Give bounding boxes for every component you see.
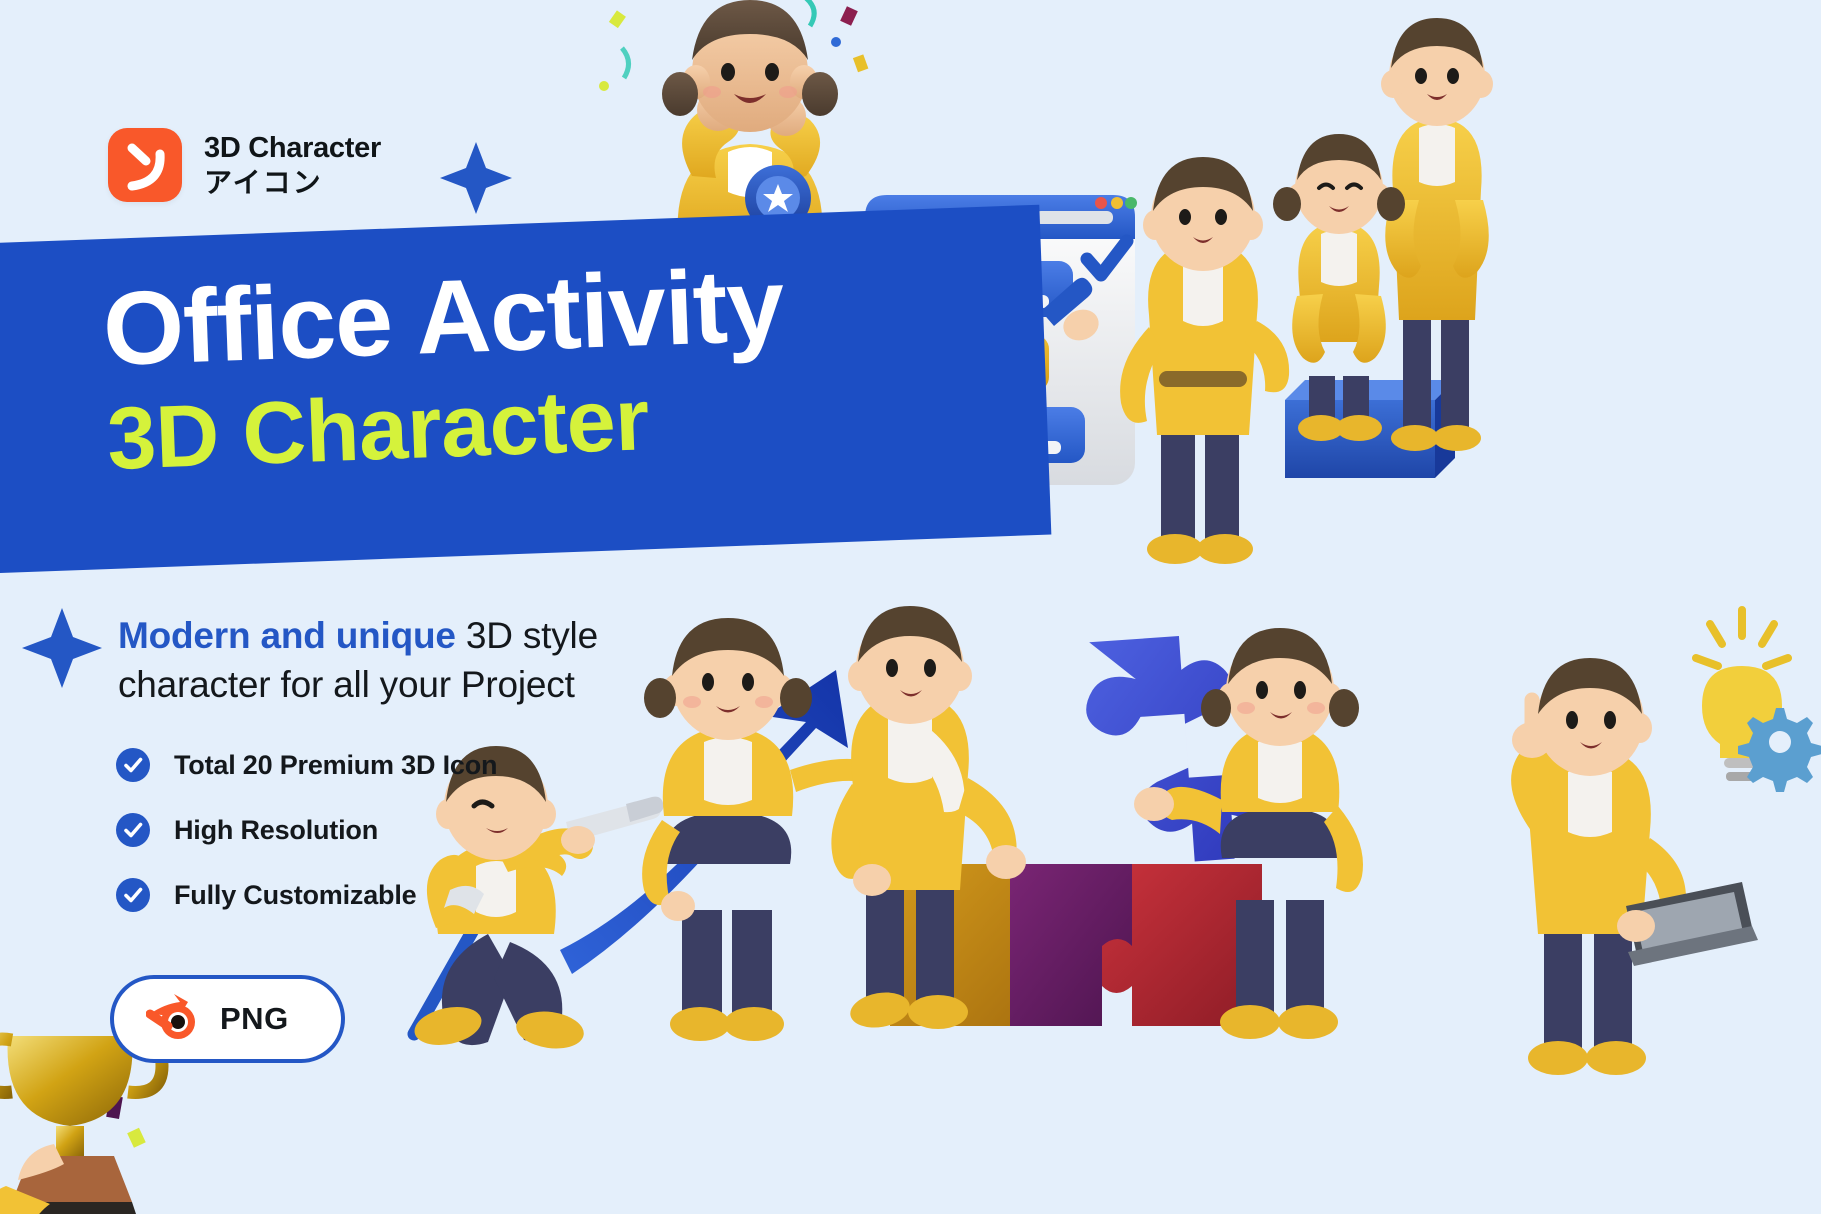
brand-logo-icon <box>108 128 182 202</box>
four-point-star-hero-icon <box>440 142 512 214</box>
tagline-accent: Modern and unique <box>118 615 456 656</box>
four-point-star-side-icon <box>22 608 102 688</box>
brand-subtitle: アイコン <box>204 167 381 198</box>
feature-item: Total 20 Premium 3D Icon <box>116 748 497 782</box>
feature-item: High Resolution <box>116 813 497 847</box>
check-circle-icon <box>116 813 150 847</box>
check-circle-icon <box>116 748 150 782</box>
feature-label: Fully Customizable <box>174 880 416 911</box>
brand-title: 3D Character <box>204 132 381 164</box>
poster-canvas: Office Activity 3D Character <box>0 0 1821 1214</box>
hero-title-line-1: Office Activity <box>101 250 785 385</box>
characters-assembling-puzzle <box>830 600 1390 1050</box>
gear-icon <box>1738 708 1821 792</box>
brand-block: 3D Character アイコン <box>108 128 381 202</box>
blender-logo-icon <box>146 992 200 1046</box>
hero-banner: Office Activity 3D Character <box>0 205 1051 575</box>
tagline: Modern and unique 3D style character for… <box>118 612 738 710</box>
feature-item: Fully Customizable <box>116 878 497 912</box>
check-circle-icon <box>116 878 150 912</box>
character-with-idea-lightbulb-and-laptop <box>1370 610 1810 1050</box>
feature-list: Total 20 Premium 3D Icon High Resolution… <box>116 748 497 912</box>
format-badge[interactable]: PNG <box>110 975 345 1063</box>
feature-label: High Resolution <box>174 815 378 846</box>
format-badge-label: PNG <box>220 1001 289 1037</box>
characters-on-winner-podium <box>1285 20 1585 490</box>
hero-title-line-2: 3D Character <box>105 366 789 488</box>
feature-label: Total 20 Premium 3D Icon <box>174 750 497 781</box>
